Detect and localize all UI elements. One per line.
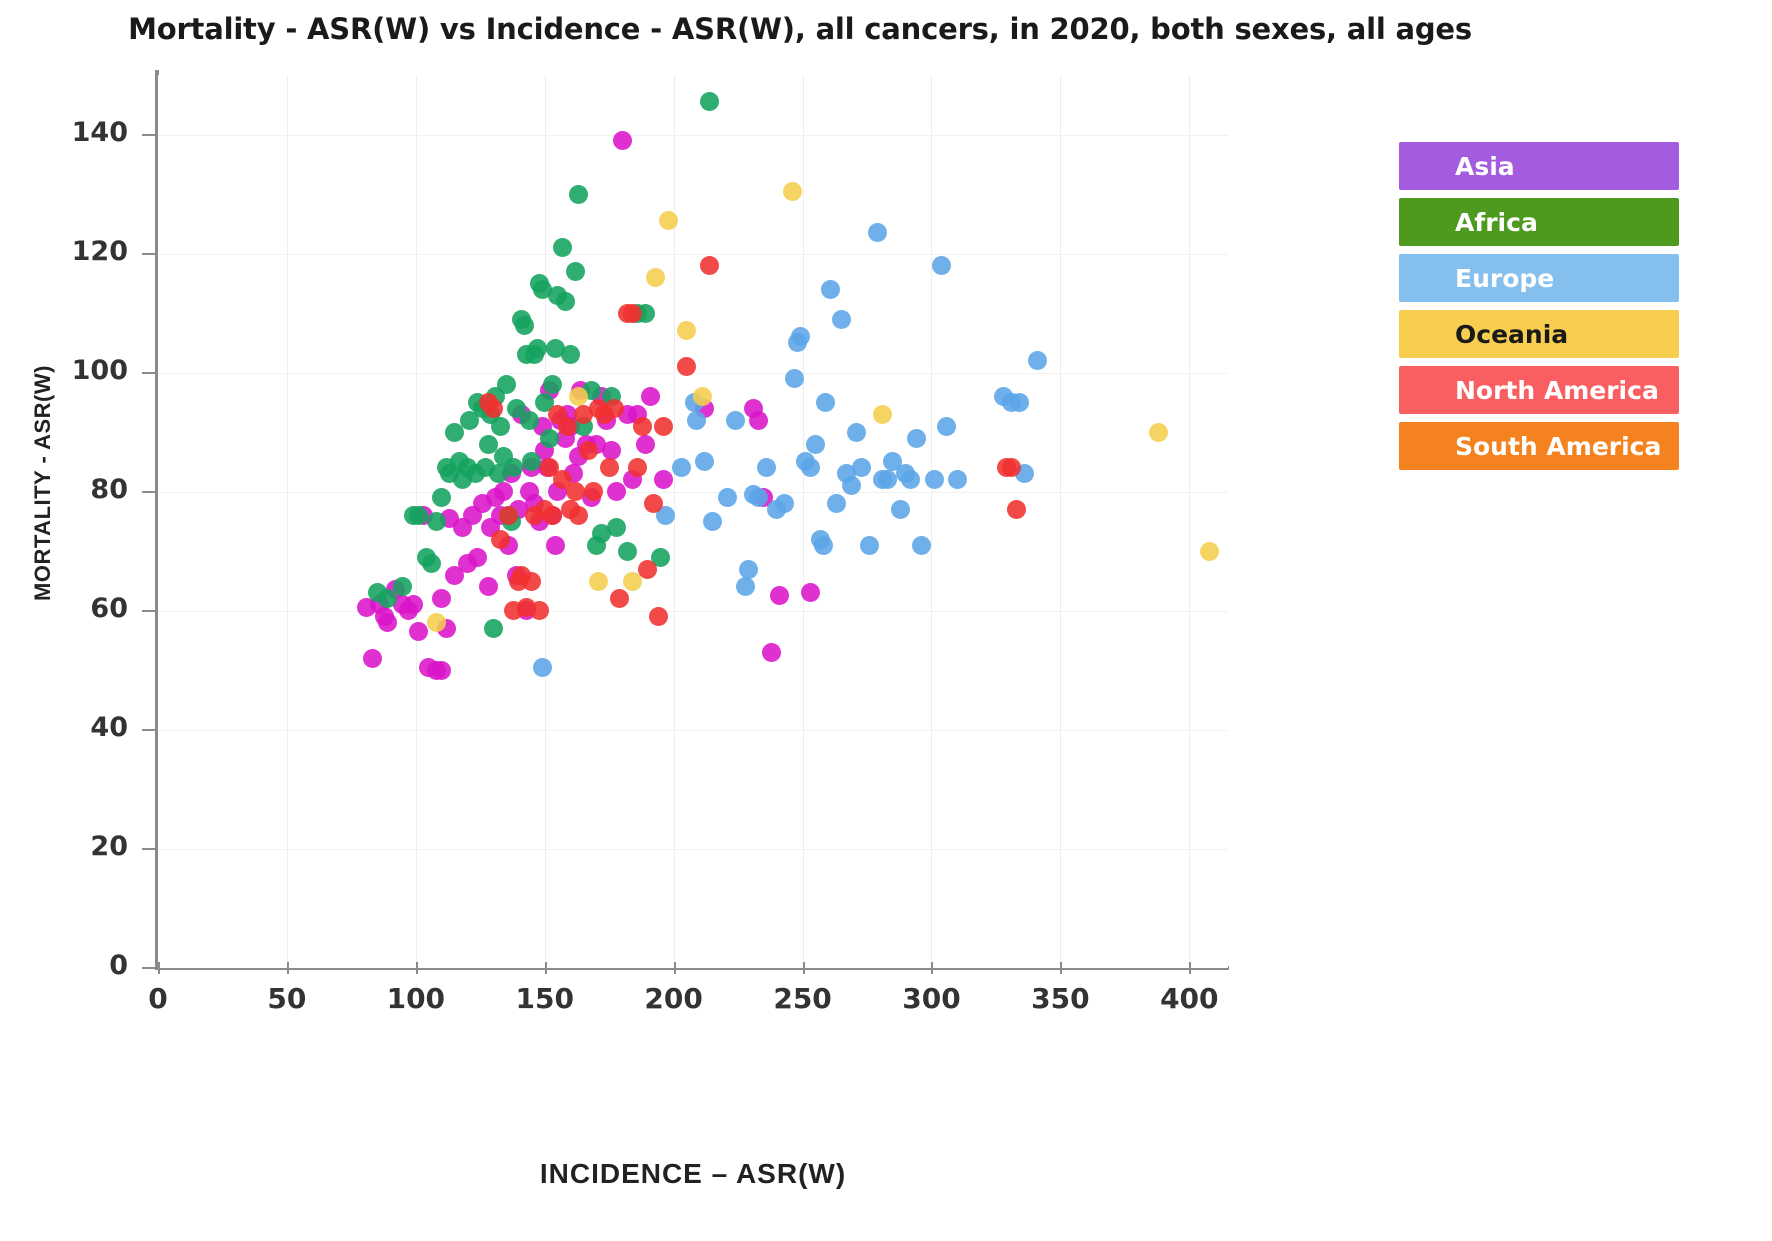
x-tick-label: 350 [1000,982,1120,1015]
gridline-horizontal [158,730,1228,731]
x-tick-mark [1189,962,1191,974]
y-tick-mark [142,610,156,612]
scatter-point[interactable] [636,435,655,454]
scatter-point[interactable] [497,375,516,394]
scatter-point[interactable] [791,327,810,346]
scatter-point[interactable] [533,658,552,677]
scatter-point[interactable] [623,304,642,323]
scatter-point[interactable] [860,536,879,555]
y-tick-label: 120 [18,236,128,267]
scatter-point[interactable] [600,458,619,477]
scatter-point[interactable] [605,399,624,418]
gridline-vertical [803,75,804,968]
x-tick-mark [416,962,418,974]
y-tick-label: 140 [18,117,128,148]
scatter-point[interactable] [775,494,794,513]
y-axis-title: MORTALITY - ASR(W) [30,318,56,648]
x-tick-label: 250 [743,982,863,1015]
x-tick-mark [287,962,289,974]
plot-area [158,75,1228,968]
legend-item-oceania[interactable]: Oceania [1399,310,1679,358]
scatter-point[interactable] [1149,423,1168,442]
gridline-vertical [1189,75,1190,968]
scatter-point[interactable] [644,494,663,513]
legend-label: Africa [1455,208,1556,237]
chart-title: Mortality - ASR(W) vs Incidence - ASR(W)… [0,12,1600,46]
x-tick-mark [545,962,547,974]
scatter-point[interactable] [515,316,534,335]
legend-label: Oceania [1455,320,1586,349]
scatter-point[interactable] [520,411,539,430]
y-tick-mark [142,253,156,255]
scatter-point[interactable] [847,423,866,442]
scatter-point[interactable] [638,560,657,579]
scatter-point[interactable] [468,548,487,567]
x-tick-label: 150 [485,982,605,1015]
scatter-point[interactable] [891,500,910,519]
gridline-horizontal [158,492,1228,493]
scatter-point[interactable] [907,429,926,448]
scatter-point[interactable] [948,470,967,489]
scatter-point[interactable] [806,435,825,454]
legend-item-africa[interactable]: Africa [1399,198,1679,246]
scatter-point[interactable] [484,399,503,418]
y-tick-mark [142,134,156,136]
scatter-point[interactable] [579,441,598,460]
legend-item-north-america[interactable]: North America [1399,366,1679,414]
scatter-point[interactable] [404,595,423,614]
scatter-point[interactable] [912,536,931,555]
gridline-vertical [287,75,288,968]
scatter-point[interactable] [479,577,498,596]
scatter-point[interactable] [783,182,802,201]
scatter-point[interactable] [618,542,637,561]
scatter-point[interactable] [432,661,451,680]
scatter-point[interactable] [543,506,562,525]
scatter-point[interactable] [422,554,441,573]
x-tick-label: 300 [871,982,991,1015]
y-tick-mark [142,372,156,374]
x-tick-mark [674,962,676,974]
scatter-point[interactable] [569,387,588,406]
legend-label: Asia [1455,152,1533,181]
legend-label: North America [1455,376,1677,405]
scatter-point[interactable] [703,512,722,531]
scatter-point[interactable] [540,429,559,448]
legend-label: Europe [1455,264,1572,293]
scatter-point[interactable] [654,417,673,436]
gridline-vertical [931,75,932,968]
gridline-vertical [674,75,675,968]
scatter-point[interactable] [749,411,768,430]
x-tick-mark [931,962,933,974]
scatter-point[interactable] [569,185,588,204]
scatter-point[interactable] [1010,393,1029,412]
scatter-point[interactable] [566,262,585,281]
plot-background [158,75,1228,968]
scatter-point[interactable] [427,512,446,531]
gridline-horizontal [158,849,1228,850]
scatter-point[interactable] [633,417,652,436]
chart-figure: Mortality - ASR(W) vs Incidence - ASR(W)… [0,0,1772,1241]
scatter-point[interactable] [641,387,660,406]
scatter-point[interactable] [814,536,833,555]
y-tick-mark [142,848,156,850]
scatter-point[interactable] [528,339,547,358]
gridline-horizontal [158,611,1228,612]
scatter-point[interactable] [602,441,621,460]
scatter-point[interactable] [613,131,632,150]
gridline-horizontal [158,135,1228,136]
scatter-point[interactable] [762,643,781,662]
legend-label: South America [1455,432,1679,461]
legend-item-europe[interactable]: Europe [1399,254,1679,302]
scatter-point[interactable] [687,411,706,430]
y-tick-mark [142,491,156,493]
scatter-point[interactable] [543,375,562,394]
scatter-point[interactable] [546,536,565,555]
x-tick-label: 50 [227,982,347,1015]
y-tick-label: 40 [18,712,128,743]
scatter-point[interactable] [868,223,887,242]
scatter-point[interactable] [363,649,382,668]
scatter-point[interactable] [569,506,588,525]
scatter-point[interactable] [739,560,758,579]
x-axis-title: INCIDENCE – ASR(W) [158,1158,1228,1190]
y-tick-mark [142,967,156,969]
scatter-point[interactable] [484,619,503,638]
y-tick-label: 20 [18,831,128,862]
legend-item-asia[interactable]: Asia [1399,142,1679,190]
scatter-point[interactable] [925,470,944,489]
scatter-point[interactable] [522,572,541,591]
scatter-point[interactable] [873,405,892,424]
scatter-point[interactable] [1028,351,1047,370]
scatter-point[interactable] [693,387,712,406]
y-tick-mark [142,729,156,731]
x-tick-label: 200 [614,982,734,1015]
legend: AsiaAfricaEuropeOceaniaNorth AmericaSout… [1399,142,1679,478]
gridline-horizontal [158,254,1228,255]
x-tick-mark [158,962,160,974]
y-tick-label: 0 [18,950,128,981]
x-tick-mark [803,962,805,974]
scatter-point[interactable] [646,268,665,287]
scatter-point[interactable] [726,411,745,430]
scatter-point[interactable] [409,506,428,525]
legend-item-south-america[interactable]: South America [1399,422,1679,470]
scatter-point[interactable] [649,607,668,626]
gridline-vertical [1060,75,1061,968]
x-tick-label: 100 [356,982,476,1015]
scatter-point[interactable] [589,572,608,591]
x-tick-mark [1060,962,1062,974]
scatter-point[interactable] [832,310,851,329]
scatter-point[interactable] [556,292,575,311]
x-tick-label: 0 [98,982,218,1015]
x-tick-label: 400 [1129,982,1249,1015]
scatter-point[interactable] [827,494,846,513]
scatter-point[interactable] [409,622,428,641]
